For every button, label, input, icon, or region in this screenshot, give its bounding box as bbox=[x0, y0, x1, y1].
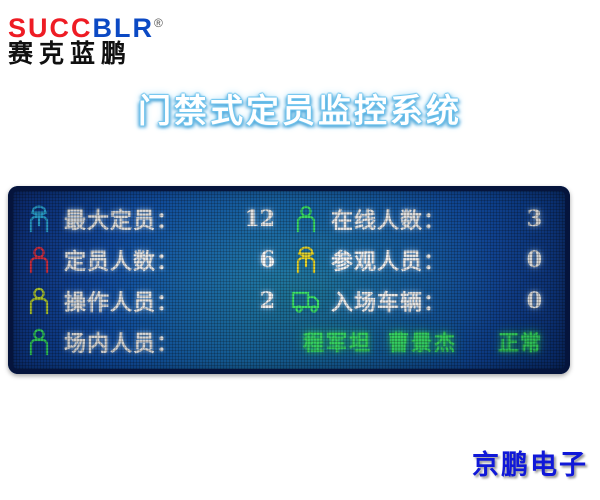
led-row-onsite-personnel: 场内人员： bbox=[22, 321, 289, 362]
led-value-operators: 2 bbox=[179, 288, 289, 314]
status-badge: 正常 bbox=[457, 327, 556, 357]
led-row-online-count: 在线人数： 3 bbox=[289, 198, 556, 239]
led-value-assigned-count: 6 bbox=[179, 247, 289, 273]
led-value-vehicles-onsite: 0 bbox=[446, 288, 556, 314]
led-row-assigned-count: 定员人数： 6 bbox=[22, 239, 289, 280]
led-onsite-name: 曹景杰 bbox=[388, 327, 457, 357]
footer-brand: 京鹏电子 bbox=[472, 443, 588, 482]
registered-trademark-icon: ® bbox=[154, 16, 163, 30]
led-display-content: 最大定员： 12 定员人数： 6 bbox=[22, 198, 556, 362]
truck-icon bbox=[289, 284, 323, 318]
person-icon bbox=[22, 243, 56, 277]
led-onsite-names: 程军坦曹景杰 bbox=[289, 327, 457, 357]
brand-chinese-name: 赛克蓝鹏 bbox=[8, 39, 208, 69]
led-label-online-count: 在线人数： bbox=[331, 203, 446, 235]
person-with-helmet-icon bbox=[22, 202, 56, 236]
led-value-visitors: 0 bbox=[446, 247, 556, 273]
led-label-assigned-count: 定员人数： bbox=[64, 244, 179, 276]
led-row-max-capacity: 最大定员： 12 bbox=[22, 198, 289, 239]
person-icon bbox=[289, 202, 323, 236]
led-label-visitors: 参观人员： bbox=[331, 244, 446, 276]
led-label-vehicles-onsite: 入场车辆： bbox=[331, 285, 446, 317]
brand-logo: SUCCBLR® 赛克蓝鹏 bbox=[8, 8, 208, 70]
person-icon bbox=[22, 284, 56, 318]
led-value-online-count: 3 bbox=[446, 206, 556, 232]
led-onsite-name: 程军坦 bbox=[303, 327, 372, 357]
brand-wordmark-blue: BLR bbox=[93, 13, 155, 43]
person-icon bbox=[22, 325, 56, 359]
led-left-column: 最大定员： 12 定员人数： 6 bbox=[22, 198, 289, 362]
led-label-operators: 操作人员： bbox=[64, 285, 179, 317]
page-title: 门禁式定员监控系统 bbox=[0, 84, 600, 132]
brand-wordmark-red: SUCC bbox=[8, 13, 93, 43]
led-label-onsite-personnel: 场内人员： bbox=[64, 326, 179, 358]
led-value-max-capacity: 12 bbox=[179, 206, 289, 232]
led-label-max-capacity: 最大定员： bbox=[64, 203, 179, 235]
led-right-column: 在线人数： 3 参观人员： 0 bbox=[289, 198, 556, 362]
led-row-visitors: 参观人员： 0 bbox=[289, 239, 556, 280]
led-row-status: 程军坦曹景杰 正常 bbox=[289, 321, 556, 362]
led-display-panel: 最大定员： 12 定员人数： 6 bbox=[8, 186, 570, 374]
led-row-operators: 操作人员： 2 bbox=[22, 280, 289, 321]
brand-wordmark: SUCCBLR® bbox=[8, 8, 208, 38]
led-row-vehicles-onsite: 入场车辆： 0 bbox=[289, 280, 556, 321]
person-with-helmet-icon bbox=[289, 243, 323, 277]
